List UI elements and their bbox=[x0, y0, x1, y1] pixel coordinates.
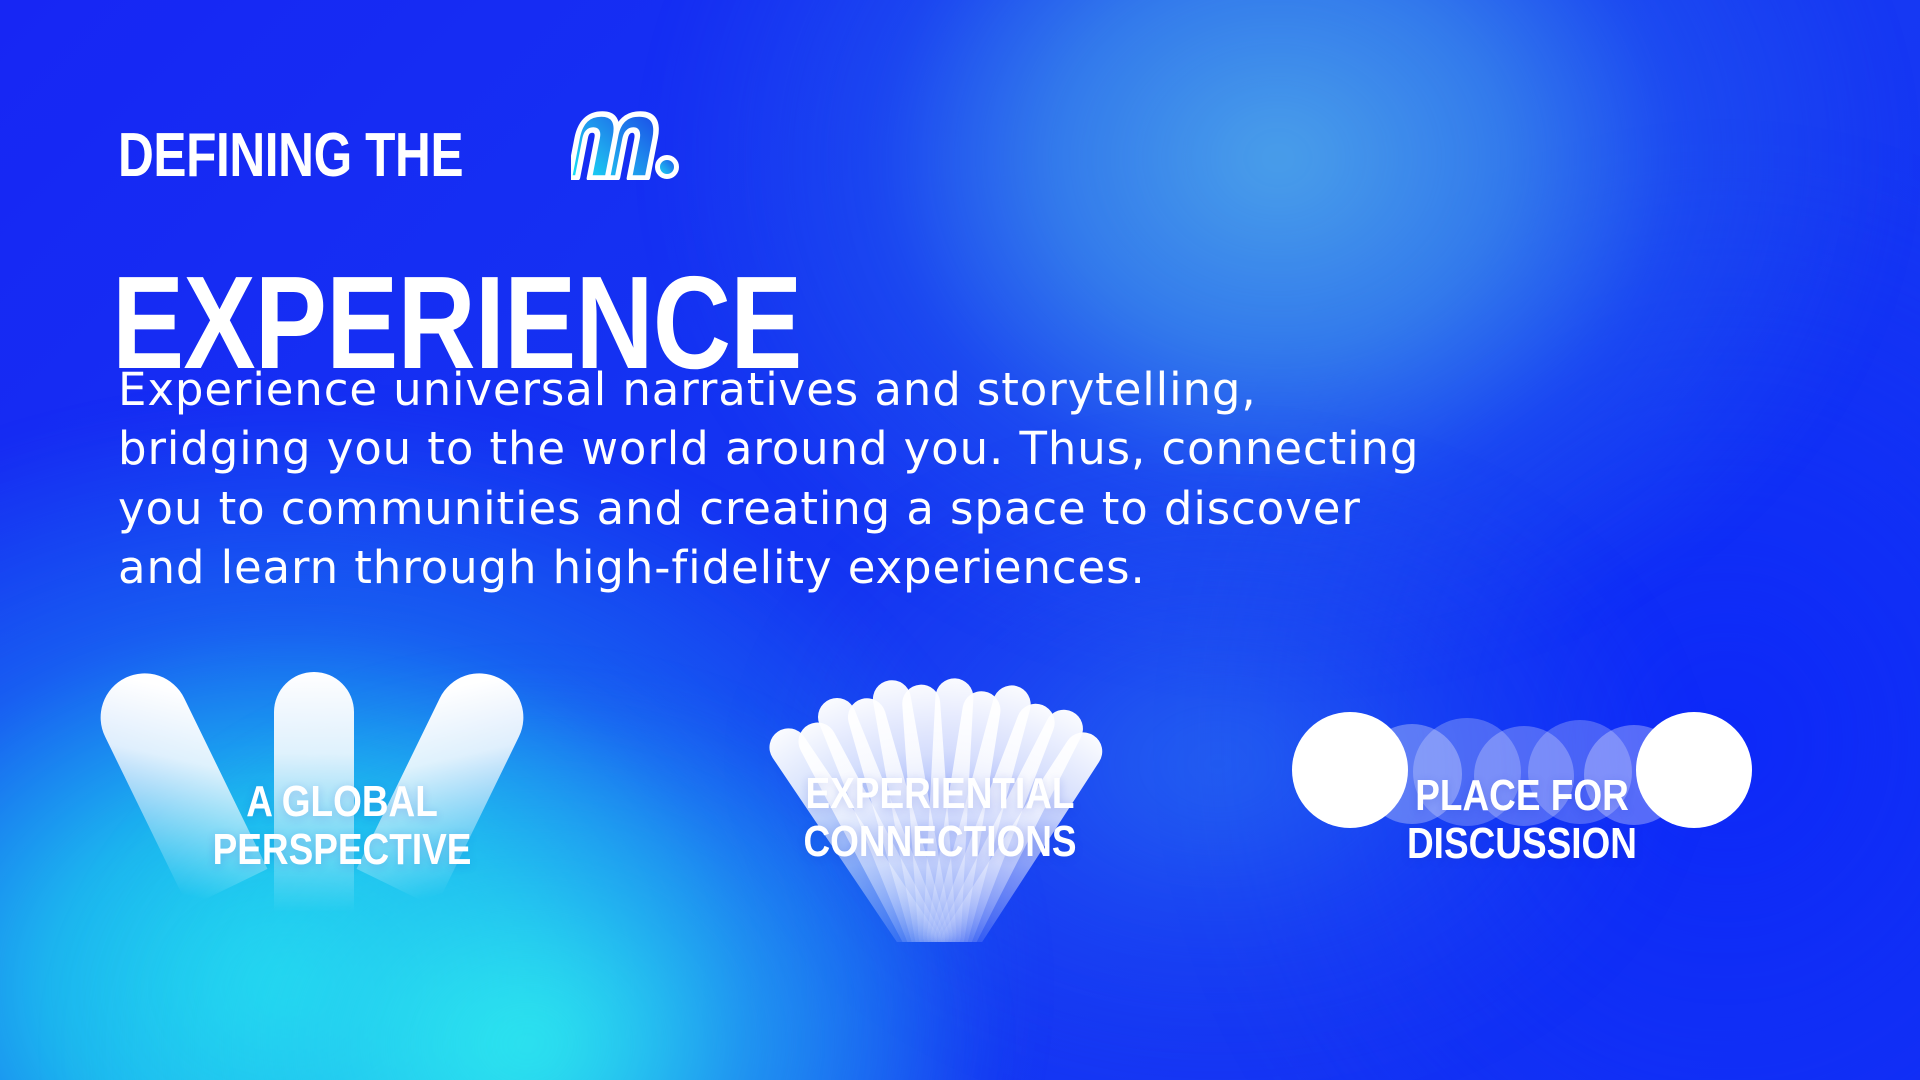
feature-label-experiential-connections: EXPERIENTIAL CONNECTIONS bbox=[722, 770, 1159, 867]
feature-2-label-line-1: EXPERIENTIAL bbox=[722, 770, 1159, 818]
slide-canvas: DEFINING THE EXPERIENCE Experience u bbox=[0, 0, 1920, 1080]
feature-label-place-for-discussion: PLACE FOR DISCUSSION bbox=[1304, 772, 1741, 869]
body-line-1: Experience universal narratives and stor… bbox=[118, 360, 1818, 419]
feature-row: A GLOBAL PERSPECTIVE bbox=[0, 672, 1920, 1002]
body-paragraph: Experience universal narratives and stor… bbox=[118, 360, 1818, 598]
eyebrow-text: DEFINING THE bbox=[118, 131, 463, 182]
feature-1-label-line-2: PERSPECTIVE bbox=[124, 826, 561, 874]
feature-2-label-line-2: CONNECTIONS bbox=[722, 818, 1159, 866]
body-line-4: and learn through high-fidelity experien… bbox=[118, 538, 1818, 597]
eyebrow-row: DEFINING THE bbox=[118, 108, 683, 182]
feature-item-experiential-connections[interactable]: EXPERIENTIAL CONNECTIONS bbox=[680, 672, 1200, 992]
feature-3-label-line-2: DISCUSSION bbox=[1304, 820, 1741, 868]
m-dot-logo bbox=[571, 108, 683, 180]
feature-1-label-line-1: A GLOBAL bbox=[124, 778, 561, 826]
feature-item-place-for-discussion[interactable]: PLACE FOR DISCUSSION bbox=[1262, 672, 1782, 992]
feature-label-a-global-perspective: A GLOBAL PERSPECTIVE bbox=[124, 778, 561, 875]
body-line-3: you to communities and creating a space … bbox=[118, 479, 1818, 538]
feature-item-a-global-perspective[interactable]: A GLOBAL PERSPECTIVE bbox=[82, 672, 602, 992]
body-line-2: bridging you to the world around you. Th… bbox=[118, 419, 1818, 478]
slide-content: DEFINING THE EXPERIENCE Experience u bbox=[0, 0, 1920, 1080]
feature-3-label-line-1: PLACE FOR bbox=[1304, 772, 1741, 820]
